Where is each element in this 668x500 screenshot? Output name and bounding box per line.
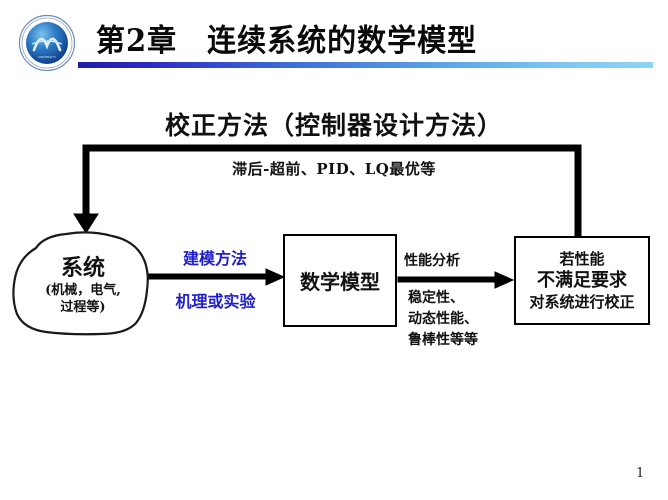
analysis-arrow-label-above: 性能分析 <box>404 250 514 270</box>
math-model-node: 数学模型 <box>283 234 397 327</box>
modeling-arrow-label-above: 建模方法 <box>145 245 285 269</box>
correction-node: 若性能 不满足要求 对系统进行校正 <box>514 236 650 325</box>
modeling-arrow-label-below: 机理或实验 <box>143 288 288 312</box>
analysis-item-2: 动态性能、 <box>408 309 518 330</box>
system-node-sub-line2: 过程等) <box>8 299 158 316</box>
system-node-label: 系统 <box>8 250 158 282</box>
system-node-sublabel: (机械，电气, 过程等) <box>8 282 158 316</box>
correction-node-line3: 对系统进行校正 <box>529 292 634 312</box>
slide-canvas: UNIVERSITY 第2章 连续系统的数学模型 校正方法（控制器设计方法） 滞… <box>0 0 668 500</box>
analysis-arrow-label-below: 稳定性、 动态性能、 鲁棒性等等 <box>408 288 518 351</box>
analysis-item-3: 鲁棒性等等 <box>408 330 518 351</box>
analysis-item-1: 稳定性、 <box>408 288 518 309</box>
correction-node-line1: 若性能 <box>559 249 604 269</box>
page-number: 1 <box>636 466 644 481</box>
correction-node-line2: 不满足要求 <box>537 269 627 292</box>
math-model-node-label: 数学模型 <box>300 266 380 295</box>
system-node-sub-line1: (机械，电气, <box>8 282 158 299</box>
